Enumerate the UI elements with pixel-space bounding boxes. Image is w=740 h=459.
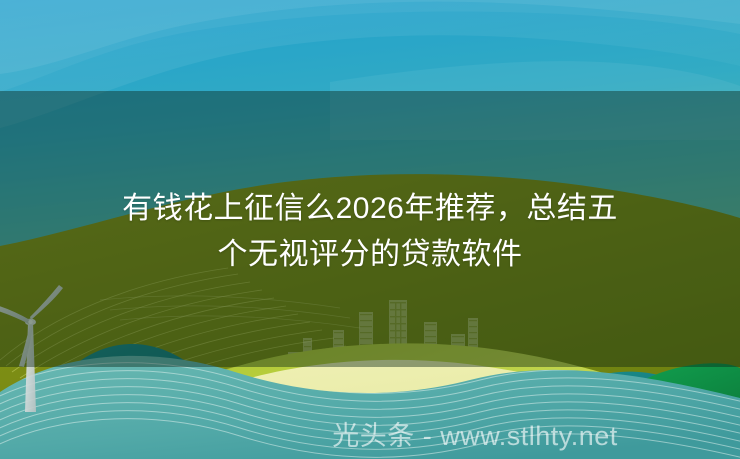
watermark-text: 光头条 - www.stlhty.net <box>332 421 618 451</box>
turbine-hub <box>28 320 32 324</box>
site-watermark: 光头条 - www.stlhty.net <box>0 421 740 451</box>
banner-graphic: 有钱花上征信么2026年推荐，总结五 个无视评分的贷款软件 光头条 - www.… <box>0 0 740 459</box>
headline-line-2: 个无视评分的贷款软件 <box>0 232 740 278</box>
page-title: 有钱花上征信么2026年推荐，总结五 个无视评分的贷款软件 <box>0 186 740 278</box>
headline-line-1: 有钱花上征信么2026年推荐，总结五 <box>0 186 740 232</box>
